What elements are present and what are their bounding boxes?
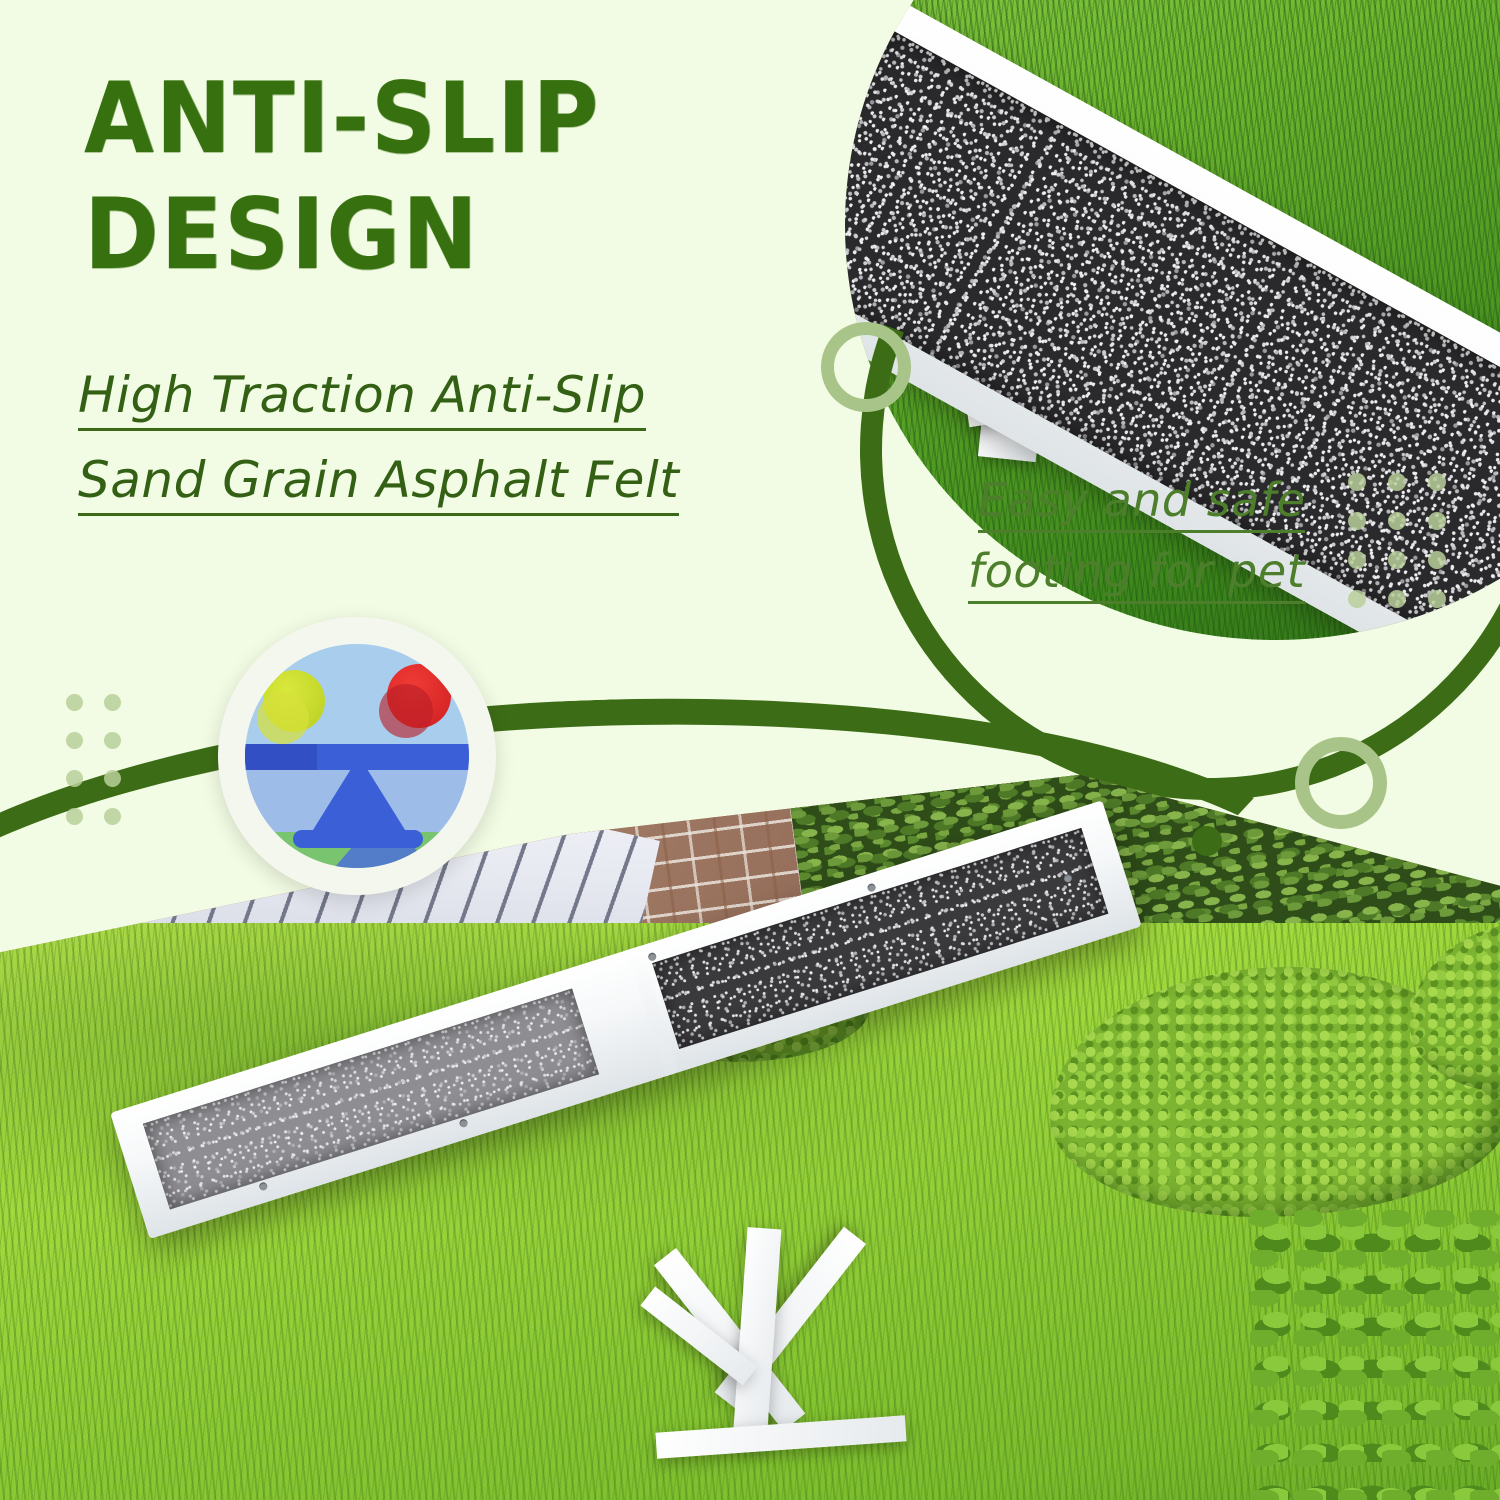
seesaw-balance-icon — [218, 617, 496, 895]
headline-line-1: ANTI-SLIP — [84, 62, 600, 176]
subheadline-line-2: Sand Grain Asphalt Felt — [78, 455, 679, 516]
plank-felt-surface-high — [652, 828, 1109, 1049]
badge-ball-red — [387, 664, 451, 728]
dot-pattern-left — [66, 694, 142, 846]
badge-fulcrum-base — [293, 830, 423, 848]
pet-seesaw-garden-photo — [0, 760, 1500, 1500]
badge-ball-yellow — [263, 670, 325, 732]
subheadline-line-1: High Traction Anti-Slip — [78, 370, 646, 431]
decorative-ring-left — [821, 322, 911, 412]
badge-beam — [245, 744, 469, 770]
caption-line-1: Easy and safe — [978, 477, 1305, 533]
decorative-ring-right — [1295, 737, 1387, 829]
headline-line-2: DESIGN — [84, 188, 673, 282]
dot-pattern-right — [1348, 473, 1468, 629]
caption-line-2: footing for pet — [968, 548, 1305, 604]
poster-canvas: ANTI-SLIP DESIGN High Traction Anti-Slip… — [0, 0, 1500, 1500]
seesaw-base-frame — [620, 1228, 920, 1458]
plank-felt-surface-low — [143, 988, 600, 1209]
seesaw-plank — [110, 800, 1142, 1239]
page-title: ANTI-SLIP DESIGN — [84, 72, 673, 282]
decorative-green-arc-cap — [1192, 826, 1222, 856]
pet-seesaw-product — [0, 760, 1500, 1500]
badge-disc — [245, 644, 469, 868]
